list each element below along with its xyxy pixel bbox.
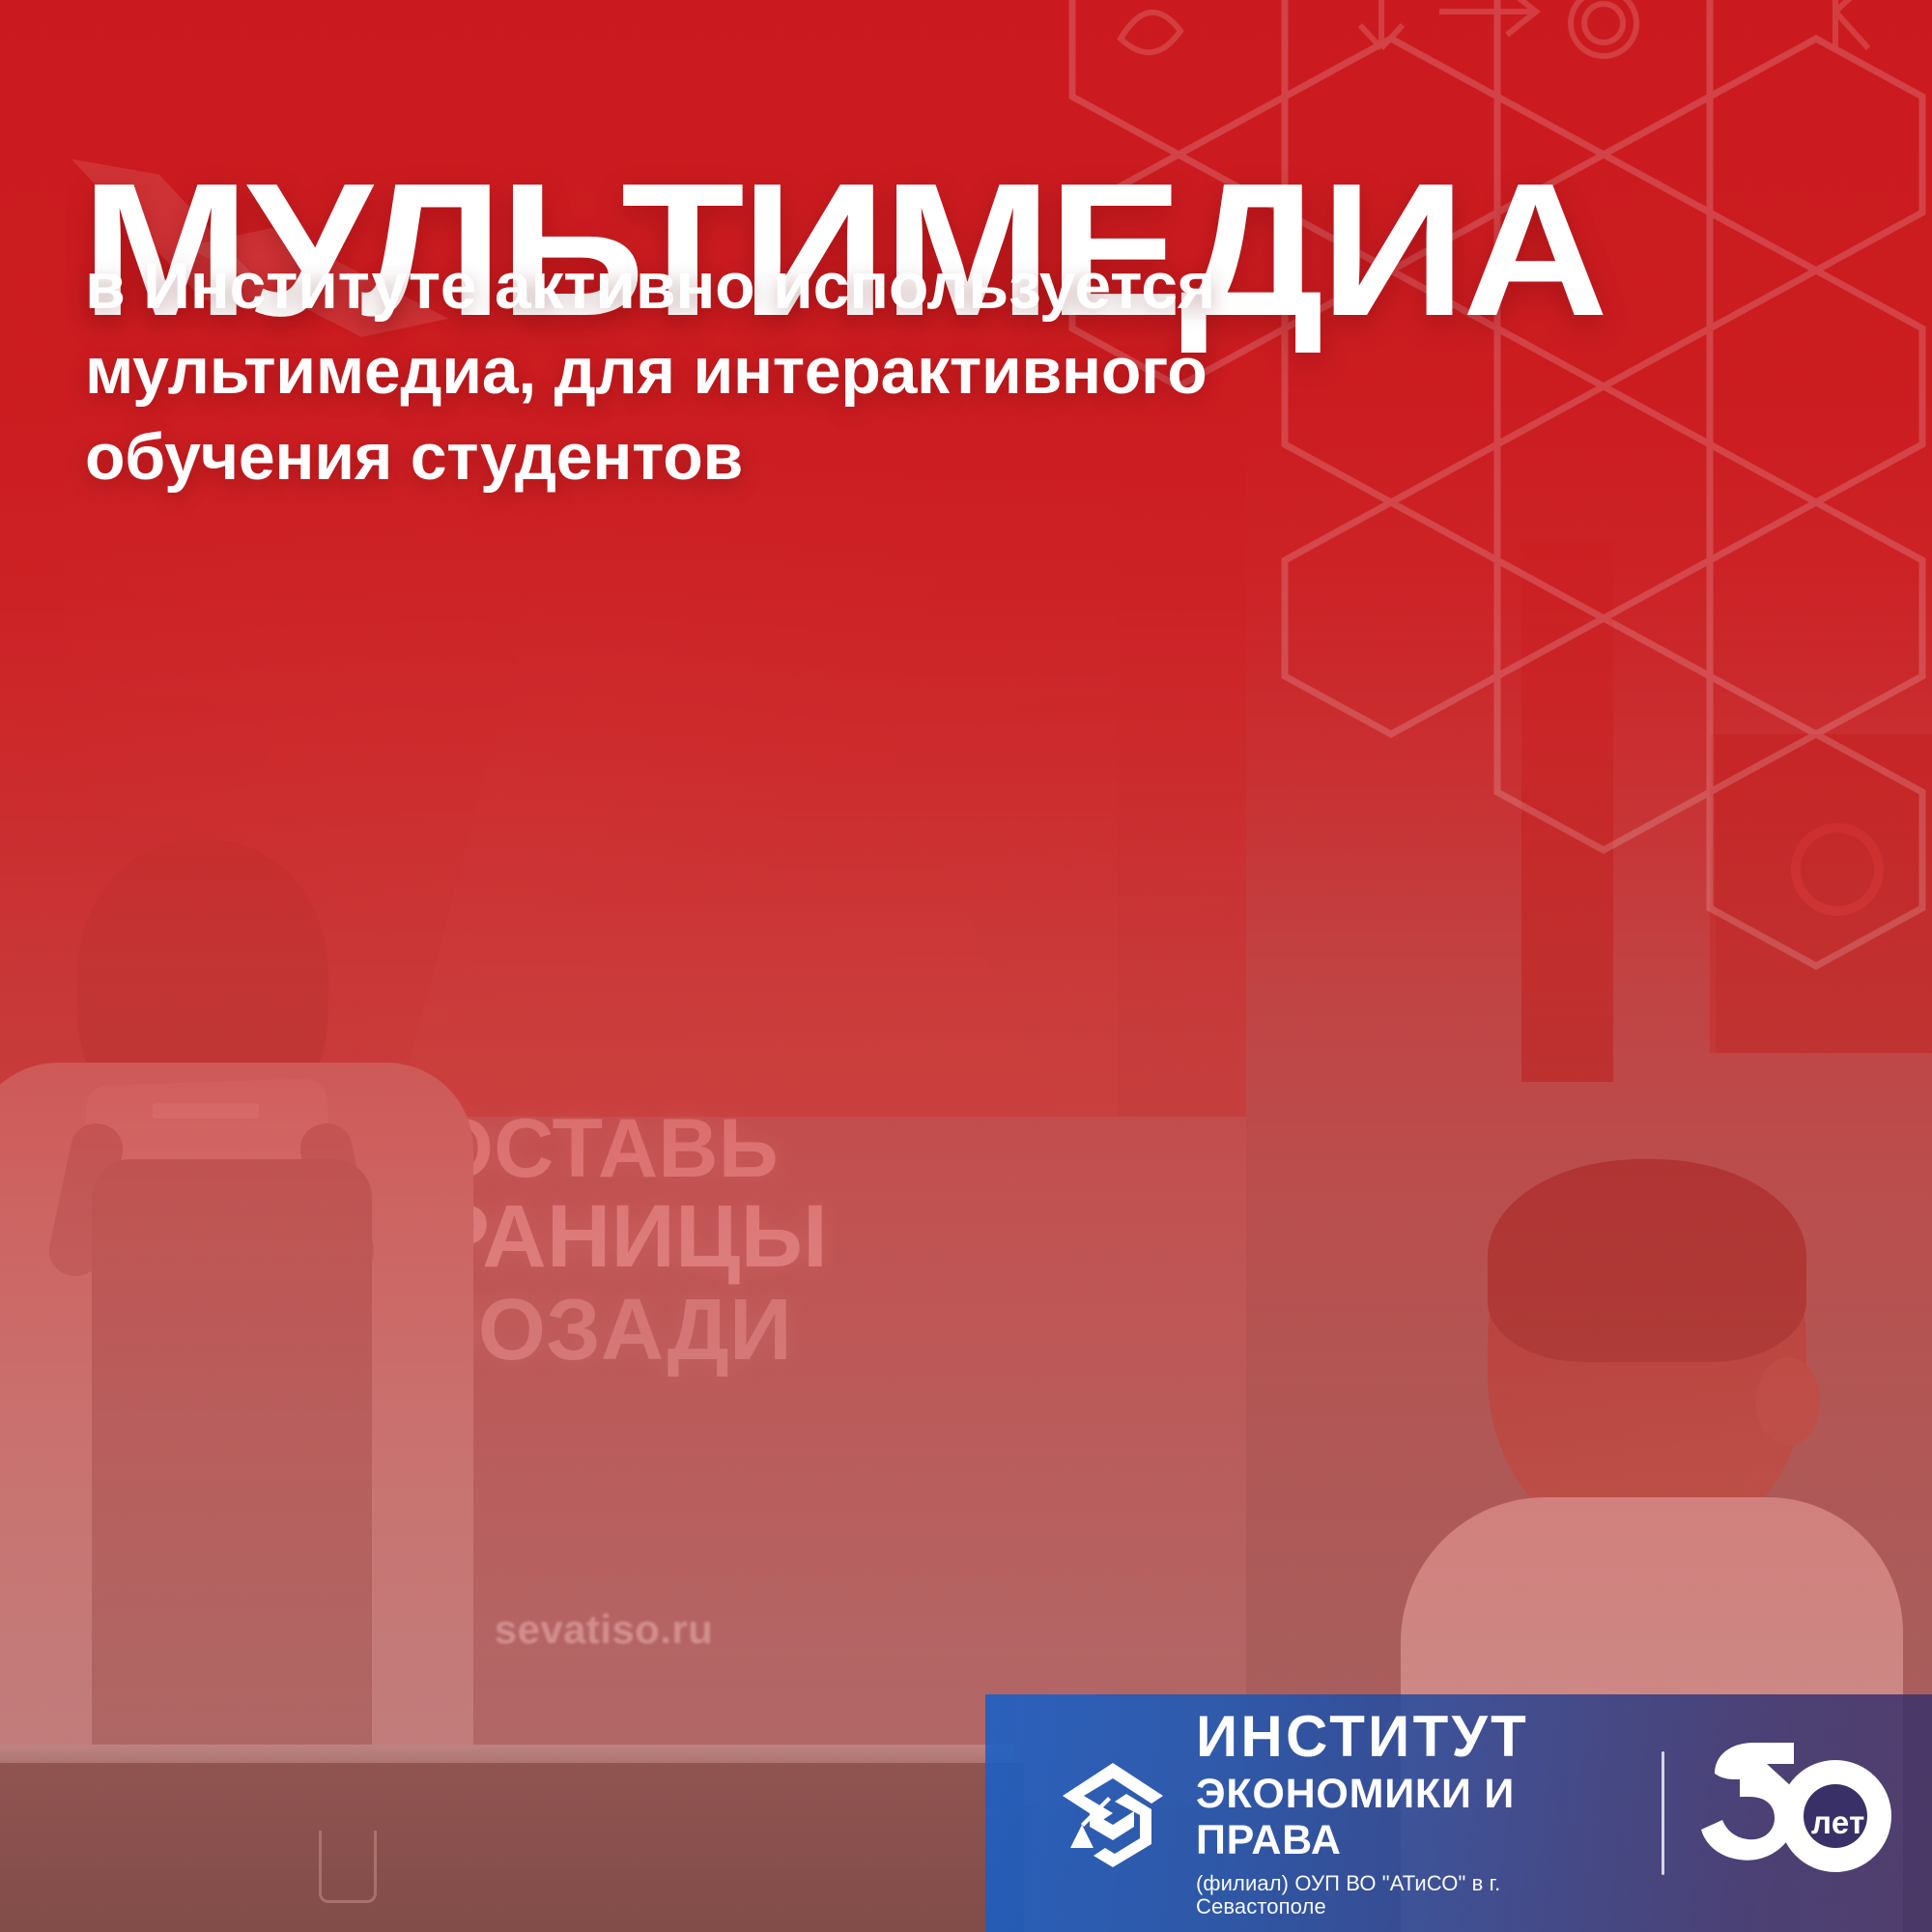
subtitle-line-3: обучения студентов bbox=[85, 414, 1215, 499]
brand-text-block: ИНСТИТУТ ЭКОНОМИКИ И ПРАВА (филиал) ОУП … bbox=[1196, 1708, 1623, 1919]
promo-poster: ОСТАВЬ ГРАНИЦЫ ПОЗАДИ sevatiso.ru bbox=[0, 0, 1932, 1932]
footer-divider bbox=[1662, 1751, 1664, 1875]
footer-brand-bar: ИНСТИТУТ ЭКОНОМИКИ И ПРАВА (филиал) ОУП … bbox=[985, 1694, 1932, 1932]
anniversary-badge: лет bbox=[1697, 1741, 1895, 1886]
brand-name-primary: ИНСТИТУТ bbox=[1196, 1708, 1623, 1766]
graduation-cap-emblem-icon bbox=[1055, 1755, 1171, 1871]
subtitle-line-1: в Институте активно используется bbox=[85, 243, 1215, 328]
anniversary-label: лет bbox=[1811, 1804, 1865, 1841]
subtitle-line-2: мультимедиа, для интерактивного bbox=[85, 328, 1215, 413]
brand-name-secondary: ЭКОНОМИКИ И ПРАВА bbox=[1196, 1771, 1623, 1863]
brand-subtitle: (филиал) ОУП ВО "АТиСО" в г. Севастополе bbox=[1196, 1872, 1623, 1918]
subtitle-text: в Институте активно используется мультим… bbox=[85, 243, 1215, 499]
